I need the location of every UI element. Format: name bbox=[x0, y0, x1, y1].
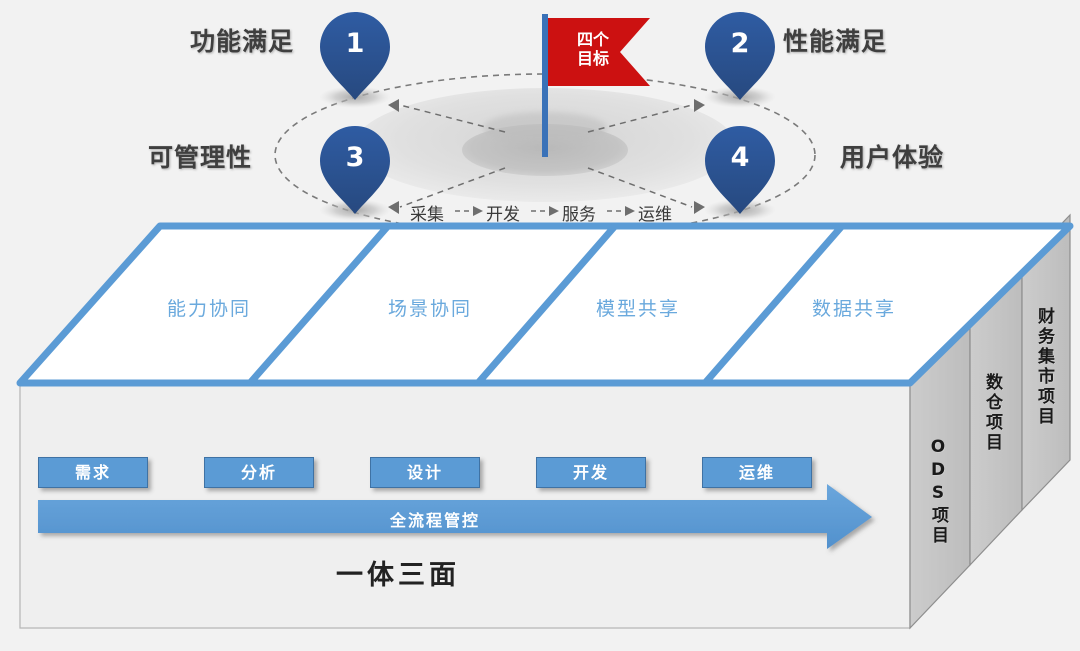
goal-label-manageability: 可管理性 bbox=[148, 138, 252, 174]
side-label-finance-mart: 财务集市项目 bbox=[1032, 307, 1057, 427]
goal-label-functional: 功能满足 bbox=[190, 22, 294, 58]
goal-flag-line1: 四个 bbox=[577, 30, 609, 49]
diagram-canvas: 四个 目标 1 2 3 4 功能满足 性能满足 可管理性 用户体验 采集 开发 … bbox=[0, 0, 1080, 651]
stage-button-analysis[interactable]: 分析 bbox=[204, 457, 314, 488]
side-label-datawarehouse: 数仓项目 bbox=[980, 373, 1005, 453]
lifecycle-step-develop: 开发 bbox=[486, 200, 520, 225]
goal-label-user-experience: 用户体验 bbox=[840, 138, 944, 174]
stage-button-ops[interactable]: 运维 bbox=[702, 457, 812, 488]
goal-flag-label: 四个 目标 bbox=[562, 30, 624, 68]
top-cell-label-data: 数据共享 bbox=[812, 294, 896, 321]
flag-pole bbox=[542, 14, 548, 157]
top-cell-label-capability: 能力协同 bbox=[167, 294, 251, 321]
lifecycle-step-service: 服务 bbox=[562, 200, 596, 225]
top-cell-label-scenario: 场景协同 bbox=[388, 294, 472, 321]
front-face-title: 一体三面 bbox=[336, 553, 460, 592]
goal-flag-line2: 目标 bbox=[577, 49, 609, 68]
side-label-ods: ODS项目 bbox=[926, 437, 951, 546]
goal-pin-3-number: 3 bbox=[332, 142, 378, 173]
goal-label-performance: 性能满足 bbox=[783, 22, 887, 58]
goal-pin-4-number: 4 bbox=[717, 142, 763, 173]
top-cell-label-model: 模型共享 bbox=[596, 294, 680, 321]
stage-button-design[interactable]: 设计 bbox=[370, 457, 480, 488]
stage-button-requirement[interactable]: 需求 bbox=[38, 457, 148, 488]
stage-button-develop[interactable]: 开发 bbox=[536, 457, 646, 488]
process-arrow-label: 全流程管控 bbox=[390, 507, 480, 531]
goal-pin-1-number: 1 bbox=[332, 28, 378, 59]
diagram-graphics bbox=[0, 0, 1080, 651]
lifecycle-step-collect: 采集 bbox=[410, 200, 444, 225]
lifecycle-step-ops: 运维 bbox=[638, 200, 672, 225]
goal-pin-2-number: 2 bbox=[717, 28, 763, 59]
